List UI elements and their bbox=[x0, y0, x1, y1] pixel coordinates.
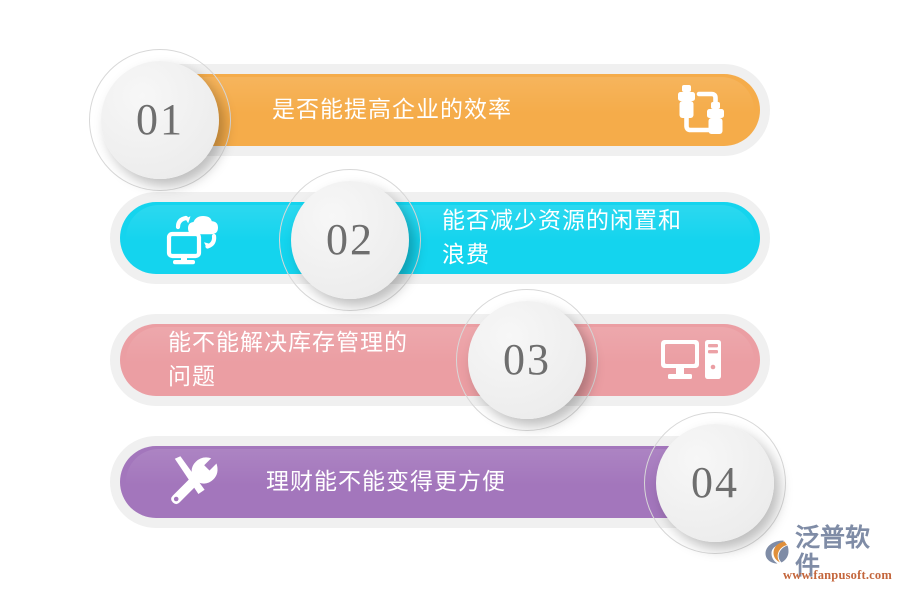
badge-number: 01 bbox=[136, 98, 184, 142]
badge-disc: 02 bbox=[291, 181, 409, 299]
row-3-label: 能不能解决库存管理的问题 bbox=[168, 326, 430, 394]
badge-disc: 04 bbox=[656, 424, 774, 542]
row-2-label: 能否减少资源的闲置和浪费 bbox=[442, 204, 697, 272]
row-2-bar: 能否减少资源的闲置和浪费 bbox=[120, 202, 760, 274]
infographic-row-2[interactable]: 能否减少资源的闲置和浪费 bbox=[110, 192, 770, 284]
step-badge-02[interactable]: 02 bbox=[291, 181, 409, 299]
step-badge-01[interactable]: 01 bbox=[101, 61, 219, 179]
step-badge-04[interactable]: 04 bbox=[656, 424, 774, 542]
company-logo[interactable]: 泛普软件 www.fanpusoft.com bbox=[763, 536, 893, 590]
wrench-screwdriver-icon bbox=[160, 452, 232, 512]
row-4-label: 理财能不能变得更方便 bbox=[266, 465, 596, 499]
badge-disc: 03 bbox=[468, 301, 586, 419]
logo-top-line: 泛普软件 bbox=[763, 536, 893, 568]
cloud-sync-monitor-icon bbox=[158, 208, 230, 268]
badge-number: 03 bbox=[503, 338, 551, 382]
step-badge-03[interactable]: 03 bbox=[468, 301, 586, 419]
row-3-bar: 能不能解决库存管理的问题 bbox=[120, 324, 760, 396]
infographic-canvas: 是否能提高企业的效率 能否减少资源的闲置和浪费 bbox=[0, 0, 900, 600]
infographic-row-3[interactable]: 能不能解决库存管理的问题 bbox=[110, 314, 770, 406]
logo-website-url: www.fanpusoft.com bbox=[763, 568, 893, 582]
badge-disc: 01 bbox=[101, 61, 219, 179]
desktop-computer-icon bbox=[655, 330, 727, 390]
fanpu-leaf-logo-icon bbox=[763, 538, 791, 566]
usb-cable-icon bbox=[665, 80, 737, 140]
row-1-label: 是否能提高企业的效率 bbox=[272, 93, 602, 127]
badge-number: 04 bbox=[691, 461, 739, 505]
badge-number: 02 bbox=[326, 218, 374, 262]
